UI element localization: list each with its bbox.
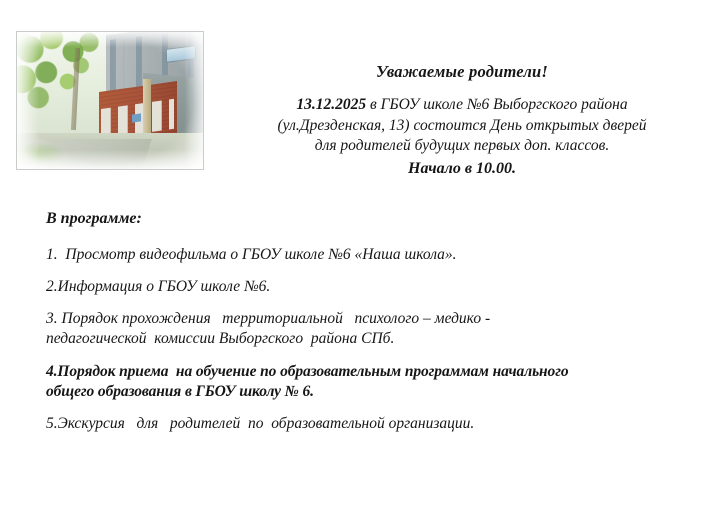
program-item-4: 4.Порядок приема на обучение по образова… <box>46 362 686 402</box>
announcement-page: Уважаемые родители! 13.12.2025 в ГБОУ шк… <box>0 0 723 510</box>
event-date: 13.12.2025 <box>296 96 366 113</box>
event-place: в ГБОУ школе №6 Выборгского района <box>366 96 627 113</box>
greeting-text: Уважаемые родители! <box>218 62 706 82</box>
program-item-2: 2.Информация о ГБОУ школе №6. <box>46 277 686 297</box>
photo-vignette <box>17 32 203 169</box>
program-item-5: 5.Экскурсия для родителей по образовател… <box>46 414 686 434</box>
photo-frame <box>16 31 204 170</box>
event-address-line: (ул.Дрезденская, 13) состоится День откр… <box>277 117 646 134</box>
event-audience-line: для родителей будущих первых доп. классо… <box>315 137 610 154</box>
program-item-3: 3. Порядок прохождения территориальной п… <box>46 309 686 349</box>
school-building-photo <box>13 28 207 173</box>
program-section: В программе: 1. Просмотр видеофильма о Г… <box>46 208 686 434</box>
announcement-text: 13.12.2025 в ГБОУ школе №6 Выборгского р… <box>218 95 706 157</box>
program-item-1: 1. Просмотр видеофильма о ГБОУ школе №6 … <box>46 245 686 265</box>
program-title: В программе: <box>46 208 686 229</box>
photo-content <box>17 32 203 169</box>
header-block: Уважаемые родители! 13.12.2025 в ГБОУ шк… <box>218 62 706 179</box>
start-time-text: Начало в 10.00. <box>218 158 706 179</box>
